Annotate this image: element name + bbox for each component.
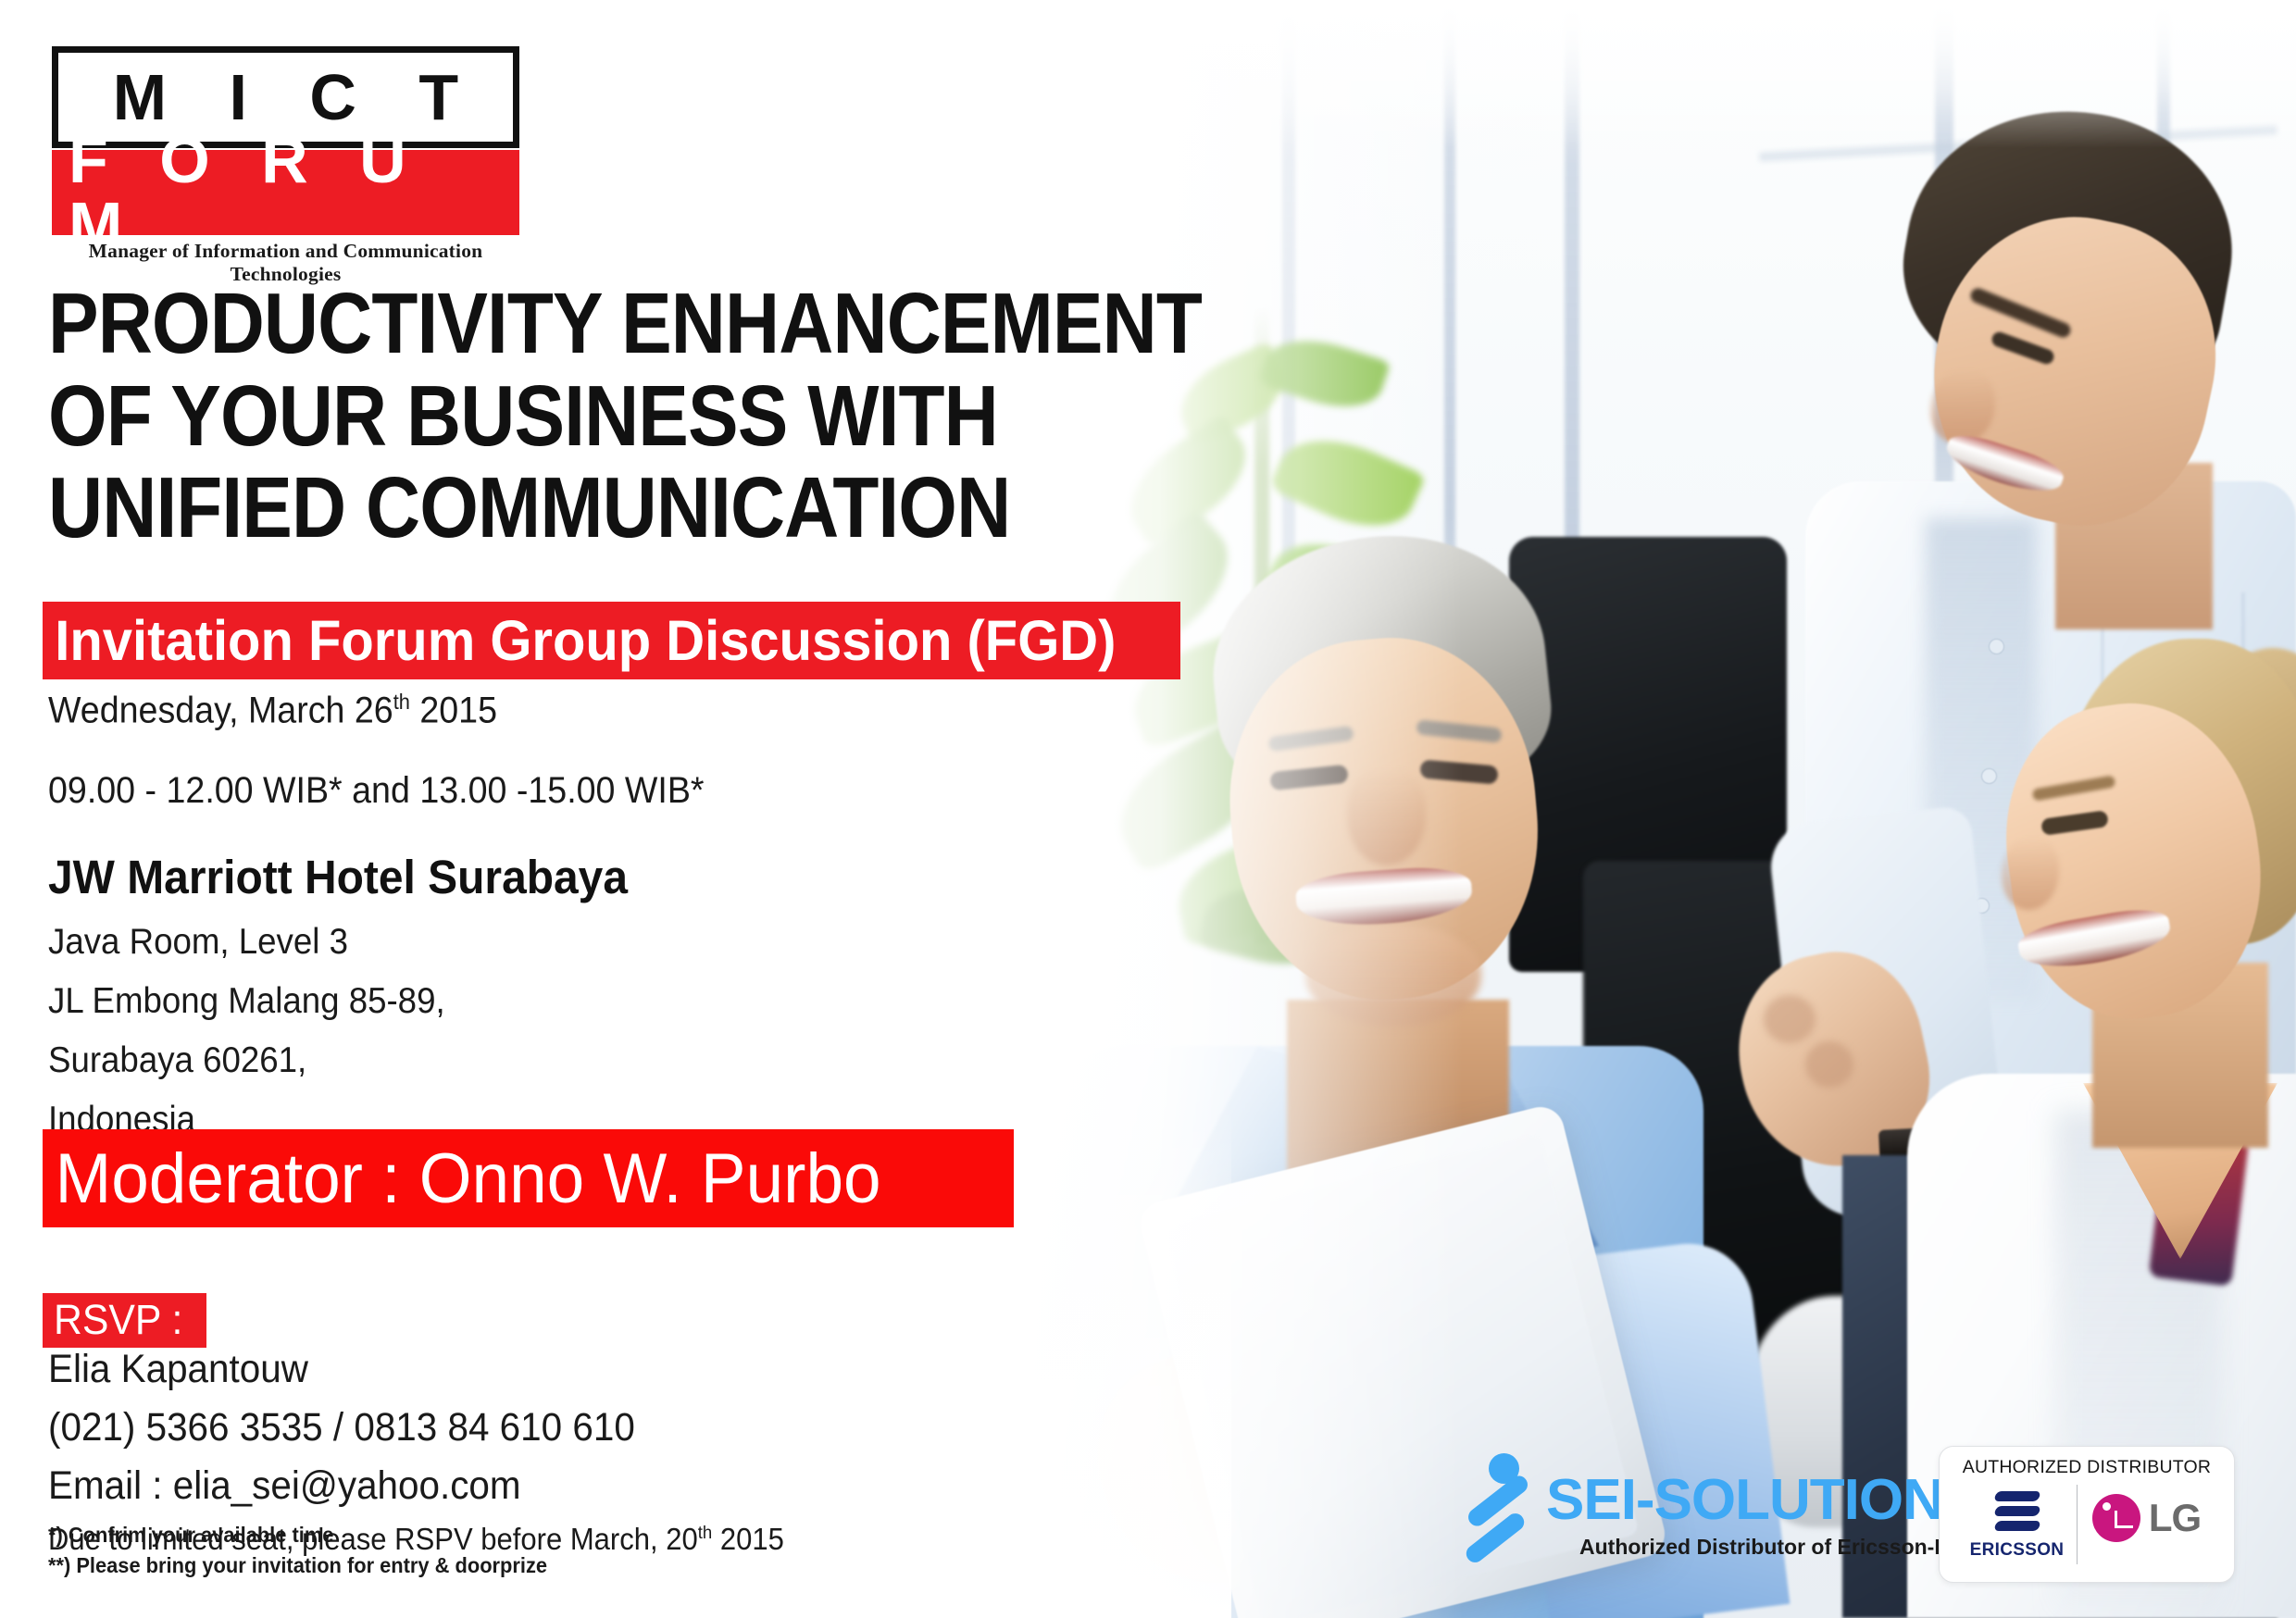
footnote-two: **) Please bring your invitation for ent… xyxy=(48,1550,547,1581)
event-date: Wednesday, March 26th 2015 xyxy=(48,690,705,731)
venue-line: Surabaya 60261, xyxy=(48,1040,628,1081)
sei-running-figure-icon xyxy=(1461,1451,1541,1555)
brand-row: ERICSSON LG xyxy=(1940,1485,2234,1564)
rsvp-tag: RSVP : xyxy=(43,1293,206,1348)
event-date-text: Wednesday, March 26 xyxy=(48,690,393,730)
event-time: 09.00 - 12.00 WIB* and 13.00 -15.00 WIB* xyxy=(48,770,705,812)
lg-eye xyxy=(2103,1502,2111,1511)
ericsson-stripe xyxy=(1993,1521,2040,1531)
rsvp-email[interactable]: Email : elia_sei@yahoo.com xyxy=(48,1463,784,1509)
headline-line-2: OF YOUR BUSINESS WITH xyxy=(48,370,1270,463)
lg-nose xyxy=(2115,1511,2117,1526)
moderator-banner: Moderator : Onno W. Purbo xyxy=(43,1129,1014,1227)
event-datetime: Wednesday, March 26th 2015 09.00 - 12.00… xyxy=(48,690,705,812)
logo-mict-text: M I C T xyxy=(91,65,480,130)
ericsson-wordmark: ERICSSON xyxy=(1970,1540,2065,1561)
ericsson-stripe xyxy=(1993,1506,2040,1516)
authorized-distributor-badge: AUTHORIZED DISTRIBUTOR ERICSSON xyxy=(1939,1446,2235,1583)
footnote-one: *) Confrim your available time xyxy=(48,1520,547,1550)
logo-forum-box: F O R U M xyxy=(52,150,519,235)
lg-mouth xyxy=(2115,1525,2133,1528)
rsvp-deadline-year: 2015 xyxy=(712,1522,784,1556)
venue-block: JW Marriott Hotel Surabaya Java Room, Le… xyxy=(48,852,628,1140)
venue-line: Java Room, Level 3 xyxy=(48,922,628,963)
lg-wordmark: LG xyxy=(2149,1499,2201,1537)
event-date-year: 2015 xyxy=(410,690,497,730)
ericsson-logo: ERICSSON xyxy=(1958,1489,2077,1561)
headline-line-3: UNIFIED COMMUNICATION xyxy=(48,462,1270,554)
venue-line: JL Embong Malang 85-89, xyxy=(48,981,628,1022)
lg-face-icon xyxy=(2092,1494,2140,1542)
ericsson-icon xyxy=(1995,1489,2040,1536)
invitation-banner-label: Invitation Forum Group Discussion (FGD) xyxy=(43,608,1116,673)
footnotes: *) Confrim your available time **) Pleas… xyxy=(48,1520,547,1580)
headline-line-1: PRODUCTIVITY ENHANCEMENT xyxy=(48,278,1270,370)
poster-root: M I C T F O R U M Manager of Information… xyxy=(0,0,2296,1618)
ericsson-stripe xyxy=(1993,1491,2040,1501)
rsvp-contact-name: Elia Kapantouw xyxy=(48,1347,784,1392)
moderator-label: Moderator : Onno W. Purbo xyxy=(43,1139,881,1219)
poster-content: M I C T F O R U M Manager of Information… xyxy=(0,0,2296,1618)
logo-forum-text: F O R U M xyxy=(52,128,519,257)
deadline-ordinal: th xyxy=(698,1523,713,1543)
rsvp-tag-label: RSVP : xyxy=(54,1295,182,1344)
rsvp-phone[interactable]: (021) 5366 3535 / 0813 84 610 610 xyxy=(48,1405,784,1450)
venue-name: JW Marriott Hotel Surabaya xyxy=(48,852,628,903)
lg-logo: LG xyxy=(2078,1494,2216,1555)
page-title: PRODUCTIVITY ENHANCEMENT OF YOUR BUSINES… xyxy=(48,278,1270,554)
date-ordinal: th xyxy=(393,690,410,714)
mict-forum-logo: M I C T F O R U M Manager of Information… xyxy=(52,46,519,286)
authorized-distributor-title: AUTHORIZED DISTRIBUTOR xyxy=(1963,1457,2211,1478)
invitation-banner: Invitation Forum Group Discussion (FGD) xyxy=(43,602,1180,679)
